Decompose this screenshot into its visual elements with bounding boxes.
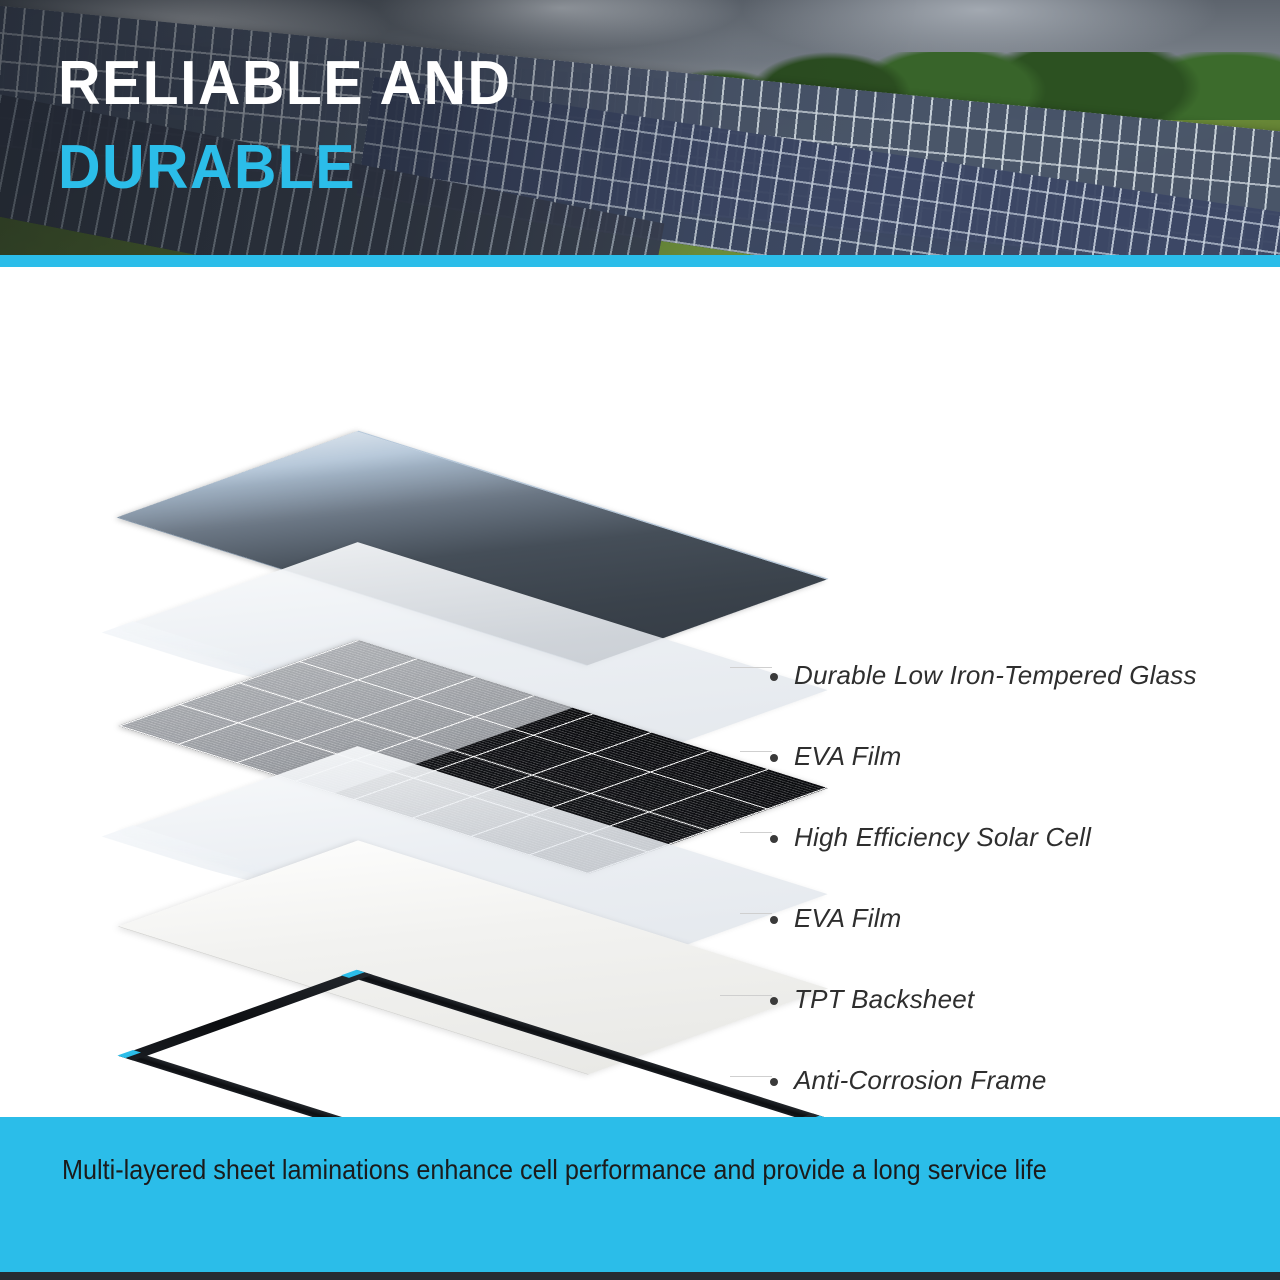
leader-line [730, 667, 772, 668]
leader-line [740, 913, 772, 914]
leader-line [730, 1076, 772, 1077]
callout-list: Durable Low Iron-Tempered Glass EVA Film… [770, 534, 1280, 1117]
callout-item-solar-cell: High Efficiency Solar Cell [770, 822, 1091, 853]
hero-banner: RELIABLE AND DURABLE [0, 0, 1280, 255]
callout-item-eva-bottom: EVA Film [770, 903, 902, 934]
diagram-stage: Durable Low Iron-Tempered Glass EVA Film… [0, 267, 1280, 1117]
callout-label: Durable Low Iron-Tempered Glass [794, 660, 1197, 691]
bullet-dot-icon [770, 835, 778, 843]
exploded-layer-group [0, 267, 790, 1117]
bullet-dot-icon [770, 673, 778, 681]
callout-label: Anti-Corrosion Frame [794, 1065, 1047, 1096]
callout-item-glass: Durable Low Iron-Tempered Glass [770, 660, 1197, 691]
callout-item-backsheet: TPT Backsheet [770, 984, 974, 1015]
callout-item-eva-top: EVA Film [770, 741, 902, 772]
frame-rail-bottom [118, 1051, 602, 1117]
leader-line [740, 751, 772, 752]
callout-label: EVA Film [794, 903, 902, 934]
footer-strip [0, 1272, 1280, 1280]
leader-line [740, 832, 772, 833]
headline-line-2: DURABLE [58, 138, 511, 198]
leader-line [720, 995, 772, 996]
callout-label: TPT Backsheet [794, 984, 974, 1015]
frame-rail-left [118, 970, 372, 1061]
bullet-dot-icon [770, 754, 778, 762]
cyan-divider-rule [0, 255, 1280, 267]
callout-label: High Efficiency Solar Cell [794, 822, 1091, 853]
callout-item-frame: Anti-Corrosion Frame [770, 1065, 1047, 1096]
bottom-caption-text: Multi-layered sheet laminations enhance … [62, 1149, 1088, 1192]
hero-headline-block: RELIABLE AND DURABLE [58, 54, 535, 198]
headline-line-1: RELIABLE AND [58, 54, 511, 114]
bullet-dot-icon [770, 997, 778, 1005]
callout-label: EVA Film [794, 741, 902, 772]
bottom-caption-bar: Multi-layered sheet laminations enhance … [0, 1117, 1280, 1272]
infographic-page: RELIABLE AND DURABLE [0, 0, 1280, 1280]
bullet-dot-icon [770, 916, 778, 924]
bullet-dot-icon [770, 1078, 778, 1086]
